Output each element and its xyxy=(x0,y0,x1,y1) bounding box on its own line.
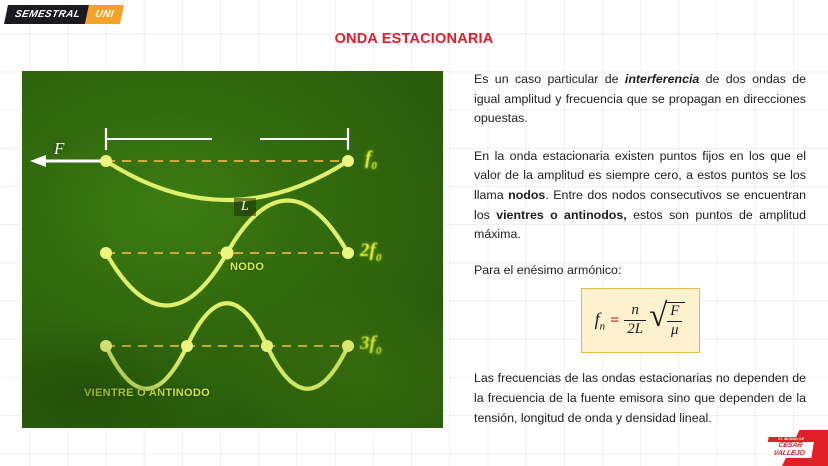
force-label-F: F xyxy=(54,139,64,159)
harmonic-3-group xyxy=(100,303,354,389)
logo-line-1: CESAR xyxy=(767,442,814,450)
formula-lhs: fn xyxy=(595,309,606,333)
logo-line-2: VALLEJO xyxy=(765,450,812,458)
standing-wave-figure: L F NODO VIENTRE O ANTINODO f0 2f0 3f0 xyxy=(22,71,443,428)
formula-fraction: n 2L xyxy=(624,303,646,338)
radical-numerator: F xyxy=(667,304,682,320)
paragraph-harmonic-lead: Para el enésimo armónico: xyxy=(474,261,806,281)
explanation-column: Es un caso particular de interferencia d… xyxy=(474,70,806,444)
antinode-label: VIENTRE O ANTINODO xyxy=(84,387,210,399)
formula-equals: = xyxy=(610,312,619,330)
length-label-L: L xyxy=(234,198,256,216)
paragraph-2-bold-vientres: vientres o antinodos, xyxy=(496,208,626,222)
harmonic-tag-1: f0 xyxy=(365,148,377,172)
paragraph-definition: Es un caso particular de interferencia d… xyxy=(474,70,806,129)
frequency-formula: fn = n 2L √ F μ xyxy=(595,302,686,339)
harmonic-1-node-right xyxy=(342,155,354,167)
harmonic-2-node-right xyxy=(342,247,354,259)
tension-force-arrow xyxy=(30,155,106,167)
harmonic-tag-2: 2f0 xyxy=(360,240,381,264)
brand-logo-uni: UNI xyxy=(85,5,123,24)
brand-logo-semestral: SEMESTRAL xyxy=(4,5,89,24)
page-title: ONDA ESTACIONARIA xyxy=(0,31,828,47)
cesar-vallejo-logo: EL MUNDO DE CESAR VALLEJO xyxy=(760,430,828,466)
harmonic-2-node-mid xyxy=(221,247,234,260)
harmonic-3-node-right xyxy=(342,340,354,352)
radical-content: F μ xyxy=(665,302,685,339)
length-measure-bar xyxy=(106,128,348,150)
formula-numerator: n xyxy=(628,303,642,319)
paragraph-nodes: En la onda estacionaria existen puntos f… xyxy=(474,147,806,245)
paragraph-2-bold-nodos: nodos xyxy=(508,188,545,202)
brand-logo: SEMESTRAL UNI xyxy=(4,5,124,24)
logo-plate: EL MUNDO DE CESAR VALLEJO xyxy=(765,437,814,458)
harmonic-2-node-left xyxy=(100,247,112,259)
radical-fraction: F μ xyxy=(667,304,682,339)
paragraph-1-emphasis: interferencia xyxy=(625,72,699,86)
harmonic-3-node-b xyxy=(261,340,273,352)
harmonic-tag-3: 3f0 xyxy=(360,333,381,357)
formula-denominator: 2L xyxy=(624,322,646,338)
node-label: NODO xyxy=(230,261,264,273)
radical-denominator: μ xyxy=(668,323,682,339)
harmonic-3-node-a xyxy=(181,340,193,352)
paragraph-1-part-a: Es un caso particular de xyxy=(474,72,625,86)
harmonic-1-string xyxy=(106,161,348,200)
harmonic-1-node-left xyxy=(100,155,112,167)
harmonic-3-node-left xyxy=(100,340,112,352)
formula-radical: √ F μ xyxy=(649,302,685,339)
harmonic-1-group xyxy=(100,155,354,200)
paragraph-frequencies: Las frecuencias de las ondas estacionari… xyxy=(474,369,806,428)
harmonic-2-group xyxy=(100,201,354,306)
frequency-formula-box: fn = n 2L √ F μ xyxy=(581,288,700,353)
